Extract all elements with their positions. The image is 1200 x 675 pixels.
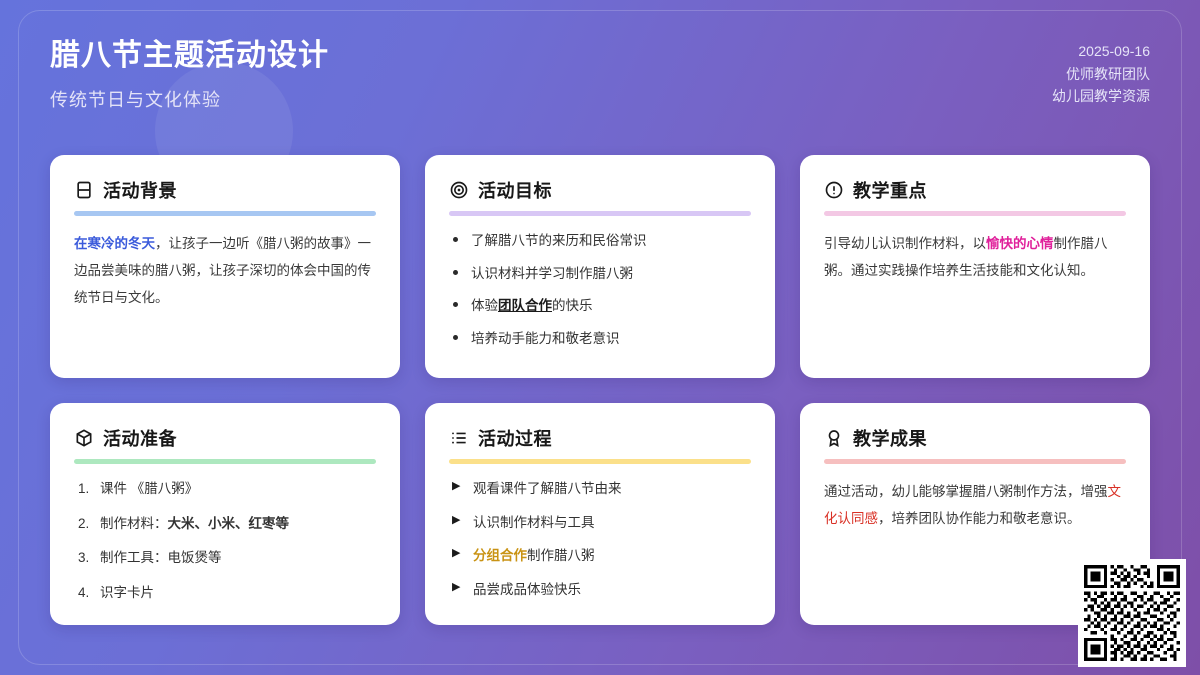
item-suffix: 制作腊八粥	[527, 548, 595, 563]
item-suffix: 认识材料并学习制作腊八粥	[471, 266, 633, 281]
accent-bar	[449, 211, 751, 216]
accent-bar	[449, 459, 751, 464]
item-strong: 大米、小米、红枣等	[168, 516, 290, 531]
list-item: 课件 《腊八粥》	[74, 478, 376, 500]
list-item: 观看课件了解腊八节由来	[449, 478, 751, 500]
card-activity-background: 活动背景 在寒冷的冬天，让孩子一边听《腊八粥的故事》一边品尝美味的腊八粥，让孩子…	[50, 155, 400, 378]
body-rest: ，培养团队协作能力和敬老意识。	[878, 511, 1081, 526]
prep-list: 课件 《腊八粥》 制作材料：大米、小米、红枣等 制作工具：电饭煲等 识字卡片	[74, 478, 376, 603]
alert-circle-icon	[824, 180, 844, 200]
accent-bar	[824, 459, 1126, 464]
slide-header: 腊八节主题活动设计 传统节日与文化体验 2025-09-16 优师教研团队 幼儿…	[50, 38, 1150, 138]
card-title: 活动过程	[478, 425, 552, 451]
card-title: 活动目标	[478, 177, 552, 203]
list-item: 认识材料并学习制作腊八粥	[449, 263, 751, 285]
target-icon	[449, 180, 469, 200]
item-prefix: 制作材料：	[100, 516, 168, 531]
highlight-text: 在寒冷的冬天	[74, 236, 155, 251]
card-header: 教学成果	[824, 425, 1126, 451]
card-activity-process: 活动过程 观看课件了解腊八节由来 认识制作材料与工具 分组合作制作腊八粥 品尝成…	[425, 403, 775, 625]
list-item: 品尝成品体验快乐	[449, 579, 751, 601]
list-item: 培养动手能力和敬老意识	[449, 328, 751, 350]
card-title: 活动背景	[103, 177, 177, 203]
card-activity-goal: 活动目标 了解腊八节的来历和民俗常识 认识材料并学习制作腊八粥 体验团队合作的快…	[425, 155, 775, 378]
body-start: 引导幼儿认识制作材料，以	[824, 236, 986, 251]
card-body: 在寒冷的冬天，让孩子一边听《腊八粥的故事》一边品尝美味的腊八粥，让孩子深切的体会…	[74, 230, 376, 311]
list-item: 制作材料：大米、小米、红枣等	[74, 513, 376, 535]
process-list: 观看课件了解腊八节由来 认识制作材料与工具 分组合作制作腊八粥 品尝成品体验快乐	[449, 478, 751, 600]
card-body: 引导幼儿认识制作材料，以愉快的心情制作腊八粥。通过实践操作培养生活技能和文化认知…	[824, 230, 1126, 284]
item-suffix: 认识制作材料与工具	[473, 515, 595, 530]
item-suffix: 的快乐	[552, 298, 593, 313]
card-header: 活动背景	[74, 177, 376, 203]
item-suffix: 了解腊八节的来历和民俗常识	[471, 233, 647, 248]
ordered-list-icon	[449, 428, 469, 448]
page-title: 腊八节主题活动设计	[50, 38, 1150, 74]
meta-team: 优师教研团队	[1052, 63, 1150, 86]
card-header: 活动目标	[449, 177, 751, 203]
accent-bar	[74, 459, 376, 464]
item-prefix: 体验	[471, 298, 498, 313]
item-suffix: 培养动手能力和敬老意识	[471, 331, 620, 346]
list-item: 识字卡片	[74, 582, 376, 604]
highlight-text: 愉快的心情	[986, 236, 1054, 251]
qr-code[interactable]	[1078, 559, 1186, 667]
card-grid: 活动背景 在寒冷的冬天，让孩子一边听《腊八粥的故事》一边品尝美味的腊八粥，让孩子…	[50, 155, 1150, 625]
card-title: 教学成果	[853, 425, 927, 451]
meta-date: 2025-09-16	[1052, 40, 1150, 63]
item-prefix: 识字卡片	[100, 585, 154, 600]
list-item: 认识制作材料与工具	[449, 512, 751, 534]
item-strong: 团队合作	[498, 298, 552, 313]
item-suffix: 观看课件了解腊八节由来	[473, 481, 622, 496]
list-item: 制作工具：电饭煲等	[74, 547, 376, 569]
item-prefix: 课件 《腊八粥》	[100, 481, 198, 496]
list-item: 了解腊八节的来历和民俗常识	[449, 230, 751, 252]
meta-source: 幼儿园教学资源	[1052, 85, 1150, 108]
header-meta: 2025-09-16 优师教研团队 幼儿园教学资源	[1052, 40, 1150, 108]
card-header: 活动准备	[74, 425, 376, 451]
accent-bar	[824, 211, 1126, 216]
card-activity-preparation: 活动准备 课件 《腊八粥》 制作材料：大米、小米、红枣等 制作工具：电饭煲等 识…	[50, 403, 400, 625]
item-strong: 分组合作	[473, 548, 527, 563]
card-body: 通过活动，幼儿能够掌握腊八粥制作方法，增强文化认同感，培养团队协作能力和敬老意识…	[824, 478, 1126, 532]
body-start: 通过活动，幼儿能够掌握腊八粥制作方法，增强	[824, 484, 1108, 499]
award-icon	[824, 428, 844, 448]
qr-code-image	[1084, 565, 1180, 661]
slide-root: 腊八节主题活动设计 传统节日与文化体验 2025-09-16 优师教研团队 幼儿…	[0, 0, 1200, 675]
list-item: 分组合作制作腊八粥	[449, 545, 751, 567]
list-item: 体验团队合作的快乐	[449, 295, 751, 317]
page-subtitle: 传统节日与文化体验	[50, 86, 1150, 112]
card-title: 教学重点	[853, 177, 927, 203]
card-title: 活动准备	[103, 425, 177, 451]
item-prefix: 制作工具：电饭煲等	[100, 550, 222, 565]
box-icon	[74, 428, 94, 448]
card-header: 活动过程	[449, 425, 751, 451]
card-header: 教学重点	[824, 177, 1126, 203]
item-suffix: 品尝成品体验快乐	[473, 582, 581, 597]
accent-bar	[74, 211, 376, 216]
goal-list: 了解腊八节的来历和民俗常识 认识材料并学习制作腊八粥 体验团队合作的快乐 培养动…	[449, 230, 751, 349]
card-teaching-focus: 教学重点 引导幼儿认识制作材料，以愉快的心情制作腊八粥。通过实践操作培养生活技能…	[800, 155, 1150, 378]
book-icon	[74, 180, 94, 200]
